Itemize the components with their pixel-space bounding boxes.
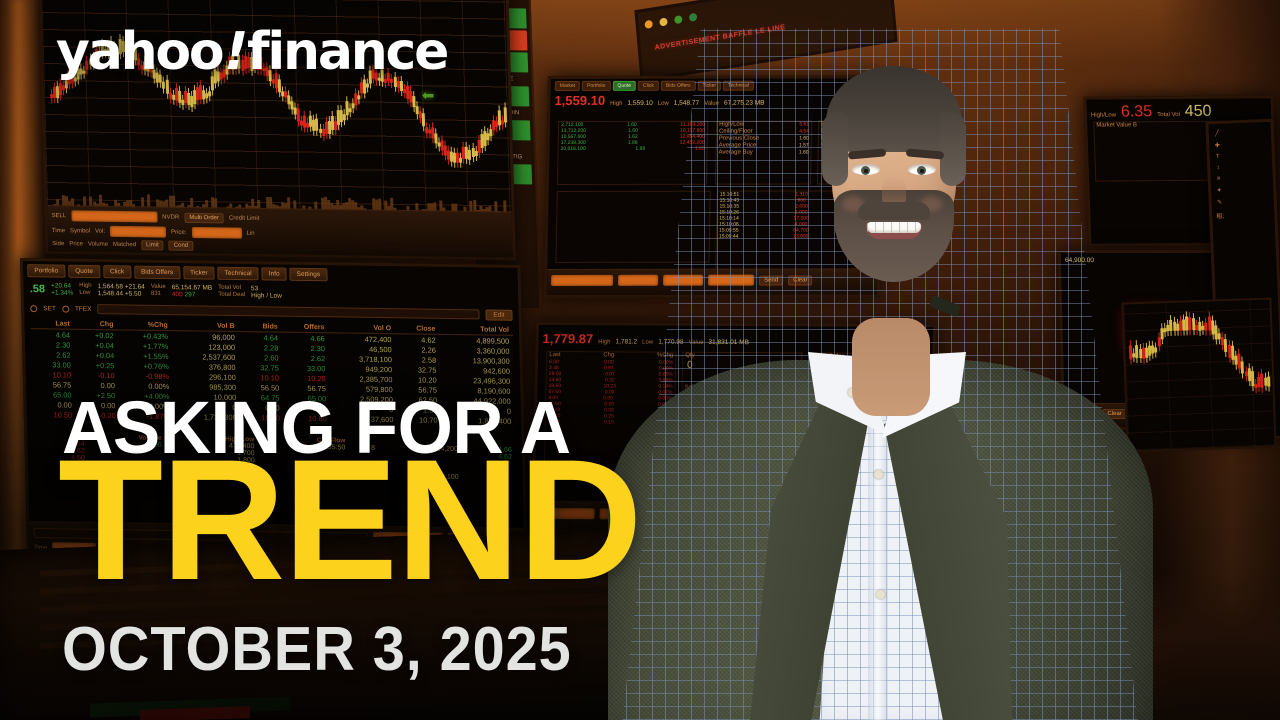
trash-tool-icon[interactable]: 粗; xyxy=(1216,211,1224,220)
index-value-amount: 65,154.67 MB xyxy=(172,284,213,292)
chart-field-symbol xyxy=(71,210,157,222)
quote-cell-last: 10.10 xyxy=(32,369,75,380)
index-high-label: High xyxy=(79,283,91,289)
quote-cell-bid: 32.75 xyxy=(239,362,282,373)
chart-label-symbol: Symbol xyxy=(70,228,90,234)
center-tab-portfolio[interactable]: Portfolio xyxy=(582,81,611,91)
quote-cell-chg: +0.02 xyxy=(74,329,118,340)
quote-tab-click[interactable]: Click xyxy=(103,265,131,278)
green-arrow-icon: ⬅ xyxy=(421,88,434,103)
rear-candlestick-series xyxy=(1128,318,1269,403)
center-tab-quote[interactable]: Quote xyxy=(612,81,636,91)
quote-cell-close: 10.20 xyxy=(396,374,440,385)
index-change-pct: +1.34% xyxy=(51,289,73,296)
logo-yahoo-text: yahoo xyxy=(56,22,222,82)
led-amber xyxy=(644,20,653,29)
center-field-b xyxy=(618,275,658,286)
quote-tab-ticker[interactable]: Ticker xyxy=(183,266,215,279)
chart-label-side: Side xyxy=(52,241,64,247)
quote-cell-chg: +0.04 xyxy=(74,340,118,351)
center-button-clear[interactable]: Clear xyxy=(788,275,813,285)
chart-toolbar: SELL NVDR Multi Order Credit Limit Time … xyxy=(47,205,513,257)
index-deals-c: 297 xyxy=(185,291,196,298)
candlestick xyxy=(1154,347,1157,353)
chart-button-multi-order: Multi Order xyxy=(184,212,224,223)
chart-label-nvdr: NVDR xyxy=(162,214,179,220)
index-low-value: 1,548.44 xyxy=(98,290,123,297)
chart-button-cond: Cond xyxy=(169,241,194,251)
edit-button[interactable]: Edit xyxy=(485,309,512,320)
radio-tfex-label: TFEX xyxy=(75,305,92,312)
lower-panel-depth: # Buy Order Price # Sell Order Buy Vol S… xyxy=(805,352,930,481)
quote-cell-close: 4.62 xyxy=(395,334,439,345)
index-value: .58 xyxy=(30,283,46,295)
radio-set-label: SET xyxy=(43,305,56,312)
quote-cell-chg: -0.10 xyxy=(75,370,119,381)
text-tool-icon[interactable]: T xyxy=(1216,154,1220,160)
candlestick xyxy=(208,91,211,96)
quote-tab-quote[interactable]: Quote xyxy=(68,265,100,278)
quote-tab-info[interactable]: Info xyxy=(262,267,287,280)
index-total-vol-label: Total Vol xyxy=(218,285,241,291)
crosshair-tool-icon[interactable]: ✚ xyxy=(1215,142,1220,149)
right-button-clear[interactable]: Clear xyxy=(1102,409,1127,419)
index-deals-b: 400 xyxy=(172,291,183,298)
led-green-2 xyxy=(689,13,698,22)
right-button-submit[interactable]: Submit xyxy=(1069,409,1098,419)
quote-cell-bid: 10.10 xyxy=(240,372,283,383)
quote-col-chg: Chg xyxy=(74,320,118,330)
measure-tool-icon[interactable]: ↕ xyxy=(1217,165,1220,171)
quote-cell-close: 32.75 xyxy=(396,364,440,375)
lower-price-label: Price xyxy=(863,354,877,361)
chart-toolbar-sell-label: SELL xyxy=(51,213,66,219)
center-index-price: 1,559.10 xyxy=(554,93,605,108)
top-monitor-text: ADVERTISEMENT BAFFLE LE LINE xyxy=(654,24,785,52)
index-total-deal-label: Total Deal xyxy=(218,292,245,298)
logo-finance-text: finance xyxy=(247,22,447,82)
quote-cell-offer: 2.62 xyxy=(282,353,329,364)
candlestick xyxy=(1267,376,1270,387)
quote-cell-close: 2.58 xyxy=(396,354,440,365)
show-title-line-2: TREND xyxy=(58,452,640,590)
center-tab-click[interactable]: Click xyxy=(638,81,659,91)
index-deals-a: 831 xyxy=(151,291,161,297)
candlestick xyxy=(348,108,351,112)
right-monitor-value: 64,900.00 xyxy=(1065,257,1094,264)
monitor-rear-chart xyxy=(1121,297,1276,452)
lower-panel-order: Qty 0 Select Volume 100 200 400 Auto Vol… xyxy=(679,352,802,481)
center-panel-stats: High/Low5.61 Ceiling/Floor4.54 Previous … xyxy=(715,121,812,185)
line-tool-icon[interactable]: ╱ xyxy=(1215,130,1219,137)
center-field-a xyxy=(551,275,613,286)
quote-col-bids: Bids xyxy=(238,322,281,332)
candlestick xyxy=(504,108,507,123)
candlestick xyxy=(422,113,425,126)
index-low-label: Low xyxy=(79,290,90,296)
quote-tab-portfolio[interactable]: Portfolio xyxy=(27,264,65,278)
pencil-tool-icon[interactable]: ✎ xyxy=(1217,199,1222,206)
quote-cell-last: 2.62 xyxy=(31,349,74,360)
center-panel-depth: 3,712,1001.6011,103,200 13,712,2001.6010… xyxy=(557,121,708,185)
led-green xyxy=(674,15,683,24)
center-toolbar: Send Clear xyxy=(547,268,878,295)
center-panel-minichart xyxy=(555,191,710,263)
quote-col-last: Last xyxy=(30,319,73,329)
center-price-row: 1,559.10 High1,559.10 Low1,548.77 Value6… xyxy=(554,92,876,108)
chart-button-limit: Limit xyxy=(141,240,164,250)
yahoo-finance-logo: yahoo!finance xyxy=(56,26,447,78)
chart-label-volume: Volume xyxy=(88,241,108,247)
quote-cell-chg: +0.25 xyxy=(75,360,119,371)
chart-label-vol: Vol: xyxy=(95,228,105,234)
monitor-center-quote: Market Portfolio Quote Click Bids Offers… xyxy=(544,75,884,298)
quote-col-close: Close xyxy=(395,324,439,334)
candlestick xyxy=(489,129,492,136)
center-panel-ticker-log: 15:10:511,3101.59 15:10:439001.60 15:10:… xyxy=(715,190,877,278)
center-field-d xyxy=(708,275,754,286)
quote-cell-offer: 2.30 xyxy=(282,343,329,354)
quote-tab-bids-offers[interactable]: Bids Offers xyxy=(134,266,180,280)
quote-cell-bid: 2.60 xyxy=(239,352,282,363)
quote-cell-chg: +0.04 xyxy=(74,350,118,361)
quote-tab-settings[interactable]: Settings xyxy=(289,268,327,282)
chart-label-price2: Price xyxy=(69,241,83,247)
index-change: +20.64 xyxy=(51,282,71,289)
center-tab-market[interactable]: Market xyxy=(555,81,580,91)
quote-cell-close: 2.26 xyxy=(396,344,440,355)
quote-cell-last: 2.30 xyxy=(31,339,74,350)
lower-buy-vol-label: Buy Vol xyxy=(811,360,832,367)
radio-tfex-icon[interactable] xyxy=(62,305,69,312)
center-panel-extra: EPS6.35 PE5.60 PBV1.60 %Yield1.38 xyxy=(817,120,878,184)
quote-tab-technical[interactable]: Technical xyxy=(217,267,258,281)
candlestick xyxy=(343,114,346,120)
chart-label-price: Price: xyxy=(171,229,187,235)
quote-cell-offer: 10.20 xyxy=(283,373,330,384)
radio-set-icon[interactable] xyxy=(30,305,37,312)
lower-field-volume xyxy=(686,395,772,404)
candlestick xyxy=(357,95,360,100)
top-monitor-led-strip xyxy=(644,0,884,30)
chart-label-lin: Lin xyxy=(246,230,254,236)
chart-label-credit-limit: Credit Limit xyxy=(229,215,260,221)
center-tab-ticker[interactable]: Ticker xyxy=(697,81,721,91)
magnet-tool-icon[interactable]: ✦ xyxy=(1217,187,1222,194)
candlestick xyxy=(165,80,168,93)
center-button-send[interactable]: Send xyxy=(759,275,783,285)
chart-field-vol xyxy=(110,226,166,238)
chart-label-matched: Matched xyxy=(113,242,136,248)
index-high-value: 1,564.58 xyxy=(97,283,122,290)
index-low-delta: +5.50 xyxy=(125,290,142,297)
center-tab-technical[interactable]: Technical xyxy=(723,81,754,91)
center-tab-bar: Market Portfolio Quote Click Bids Offers… xyxy=(555,80,877,91)
chart-label-time: Time xyxy=(52,228,65,234)
lower-index-price: 1,779.87 xyxy=(542,331,593,346)
episode-date: OCTOBER 3, 2025 xyxy=(62,622,572,678)
center-field-c xyxy=(663,275,703,286)
thumbnail-canvas: ADVERTISEMENT BAFFLE LE LINE ENSATE RODU… xyxy=(0,0,1280,720)
led-yellow xyxy=(659,17,668,26)
quote-cell-last: 33.00 xyxy=(31,359,74,370)
quote-cell-last: 4.64 xyxy=(31,329,75,340)
quote-cell-bid: 4.64 xyxy=(239,332,283,343)
index-value-label: Value xyxy=(151,284,166,290)
chart-field-price xyxy=(191,227,241,239)
quote-cell-offer: 4.66 xyxy=(282,332,329,343)
lower-sell-vol-label: Sell Vol xyxy=(907,361,927,368)
index-high-low-label: High / Low xyxy=(251,292,282,299)
quote-cell-offer: 33.00 xyxy=(283,363,330,374)
fib-tool-icon[interactable]: ≡ xyxy=(1217,176,1221,182)
index-total-vol: 53 xyxy=(251,285,258,292)
index-high-delta: +21.64 xyxy=(125,283,145,290)
center-tab-bids[interactable]: Bids Offers xyxy=(661,81,696,91)
quote-cell-bid: 2.28 xyxy=(239,342,282,353)
quote-cell-pct: +0.43% xyxy=(118,330,173,341)
